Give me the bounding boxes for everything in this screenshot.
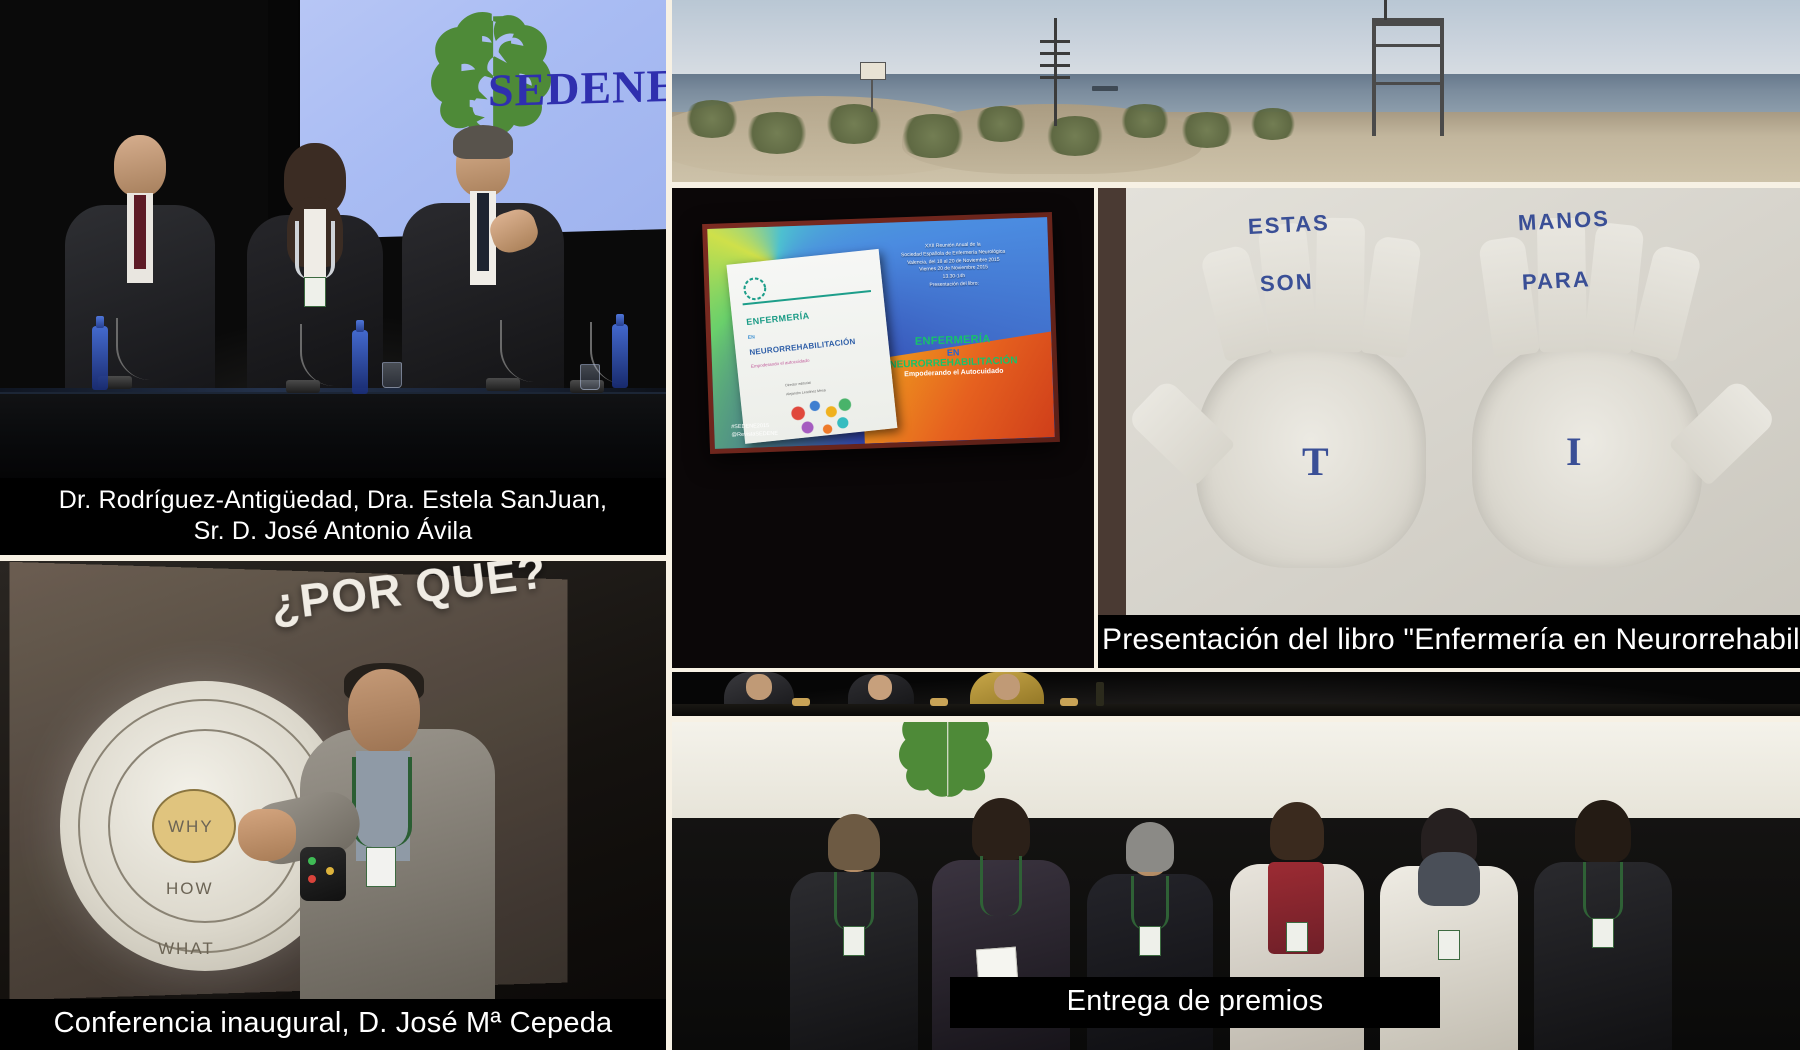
- badge: [843, 926, 865, 956]
- tower-antenna: [1384, 0, 1387, 20]
- bush: [1247, 108, 1299, 140]
- presentation-slide: XXII Reunión Anual de la Sociedad Españo…: [707, 217, 1054, 449]
- bush: [1042, 116, 1108, 156]
- mast-arm: [1040, 76, 1070, 79]
- hand-letter-t: T: [1302, 438, 1329, 485]
- hand-word-para: PARA: [1521, 266, 1591, 296]
- finger: [1360, 235, 1422, 358]
- label-why: WHY: [168, 817, 214, 837]
- caption-awards: Entrega de premios: [950, 977, 1440, 1028]
- hashtag-text: #SEDENE2015: [731, 423, 769, 430]
- caption-keynote: Conferencia inaugural, D. José Mª Cepeda: [0, 999, 666, 1050]
- tower-top: [1372, 18, 1444, 26]
- sedene-logo-text: SEDENE: [488, 59, 666, 117]
- microphone-base: [286, 380, 320, 393]
- finger: [1315, 218, 1365, 353]
- label-what: WHAT: [158, 939, 215, 959]
- hand-word-estas: ESTAS: [1247, 210, 1330, 240]
- hair: [1126, 822, 1174, 872]
- book-title-4: Empoderando el autocuidado: [750, 358, 809, 369]
- panel-conference-table[interactable]: SEDENE: [0, 0, 666, 555]
- badge: [304, 277, 326, 307]
- mast-arm: [1040, 64, 1070, 67]
- photo-collage: SEDENE: [0, 0, 1800, 1050]
- badge: [1438, 930, 1460, 960]
- caption-book-presentation: Presentación del libro "Enfermería en Ne…: [1098, 615, 1800, 668]
- hair: [1270, 802, 1324, 860]
- book-title-1: ENFERMERÍA: [746, 310, 810, 327]
- clicker-led-green: [308, 857, 316, 865]
- water-bottle: [92, 326, 108, 390]
- lifeguard-tower: [1372, 18, 1444, 136]
- slide-header-6: Presentación del libro:: [929, 280, 979, 288]
- caption-conference: Dr. Rodríguez-Antigüedad, Dra. Estela Sa…: [0, 478, 666, 555]
- bush: [897, 114, 969, 158]
- panel-keynote-porque[interactable]: WHY HOW WHAT ¿POR QUÉ? Conferencia inaug…: [0, 561, 666, 1050]
- hands-photograph: ESTAS MANOS SON PARA T I: [1126, 188, 1800, 668]
- photo-mat: [1098, 188, 1126, 668]
- mesa-light: [792, 698, 810, 706]
- slide-header-text: XXII Reunión Anual de la Sociedad Españo…: [868, 239, 1040, 291]
- mesa-person-head: [746, 674, 772, 700]
- sign-post: [871, 80, 873, 112]
- tower-rung: [1376, 82, 1440, 85]
- ship: [1092, 86, 1118, 91]
- mesa-light: [1060, 698, 1078, 706]
- headscarf: [1418, 852, 1480, 906]
- book-editor-name: Alejandro Lendínez Mesa: [786, 389, 826, 397]
- bush: [822, 104, 886, 144]
- slide-social: #SEDENE2015 @RevistaSEDENE: [731, 421, 778, 439]
- microphone-base: [486, 378, 520, 391]
- panel-book-slide[interactable]: XXII Reunión Anual de la Sociedad Españo…: [672, 188, 1094, 668]
- hand-word-manos: MANOS: [1517, 206, 1610, 237]
- hand-word-son: SON: [1259, 269, 1314, 298]
- panel-head-table[interactable]: [672, 672, 1800, 716]
- award-person-6[interactable]: [1528, 800, 1678, 1050]
- tower-rung: [1376, 44, 1440, 47]
- badge: [1592, 918, 1614, 948]
- book-editor-label: Director editorial: [785, 381, 811, 388]
- bush: [972, 106, 1030, 142]
- bush: [1177, 112, 1237, 148]
- sky: [672, 0, 1800, 74]
- mast-arm: [1040, 52, 1070, 55]
- speaker-badge: [366, 847, 396, 887]
- publisher-logo-icon: [740, 273, 770, 303]
- panel-beach[interactable]: [672, 0, 1800, 182]
- bush: [742, 112, 812, 154]
- beach-sign: [860, 62, 886, 80]
- slide-header-1: XXII Reunión Anual de la: [925, 241, 981, 249]
- book-brain-dots-icon: [780, 392, 864, 444]
- hair: [828, 814, 880, 870]
- bush: [1117, 104, 1173, 138]
- water-bottle: [612, 324, 628, 388]
- caption-line-1: Dr. Rodríguez-Antigüedad, Dra. Estela Sa…: [59, 486, 607, 514]
- slide-header-5: 13.30-14h: [943, 273, 966, 280]
- mesa-bottle: [1096, 682, 1104, 706]
- mesa-table-surface: [672, 704, 1800, 716]
- lanyard: [1131, 876, 1169, 930]
- lanyard: [980, 856, 1022, 916]
- mast: [1054, 18, 1057, 126]
- right-palm: [1472, 338, 1702, 568]
- water-glass: [580, 364, 600, 390]
- conference-table: [0, 392, 666, 482]
- clicker-led-red: [308, 875, 316, 883]
- lanyard: [1583, 862, 1623, 920]
- clicker-led-yellow: [326, 867, 334, 875]
- panel-hands-photo[interactable]: ESTAS MANOS SON PARA T I Presentación de…: [1098, 188, 1800, 668]
- speaker-hand: [238, 809, 296, 861]
- hair: [1575, 800, 1631, 862]
- panel-awards[interactable]: Entrega de premios: [672, 722, 1800, 1050]
- mast-arm: [1040, 40, 1070, 43]
- mesa-person-head: [868, 675, 892, 700]
- label-how: HOW: [166, 879, 214, 899]
- screen-frame: XXII Reunión Anual de la Sociedad Españo…: [702, 212, 1060, 454]
- water-bottle: [352, 330, 368, 394]
- book-cover: ENFERMERÍA EN NEURORREHABILITACIÓN Empod…: [726, 249, 897, 444]
- slide-header-4: Viernes 20 de Noviembre 2015: [919, 264, 988, 272]
- caption-line-2: Sr. D. José Antonio Ávila: [194, 517, 473, 545]
- twitter-handle: @RevistaSEDENE: [731, 431, 778, 439]
- hand-letter-i: I: [1566, 428, 1582, 475]
- award-person-1[interactable]: [784, 810, 924, 1050]
- speaker-head: [348, 669, 420, 753]
- lanyard: [834, 872, 874, 930]
- mesa-person-head: [994, 674, 1020, 700]
- water-glass: [382, 362, 402, 388]
- bush: [682, 100, 742, 138]
- speaker-lanyard: [352, 757, 412, 847]
- book-title-3: NEURORREHABILITACIÓN: [749, 336, 856, 356]
- finger: [1478, 235, 1540, 358]
- presenter-clicker: [300, 847, 346, 901]
- badge: [1139, 926, 1161, 956]
- badge: [1286, 922, 1308, 952]
- book-title-2: EN: [747, 334, 755, 341]
- hair: [972, 798, 1030, 860]
- mesa-light: [930, 698, 948, 706]
